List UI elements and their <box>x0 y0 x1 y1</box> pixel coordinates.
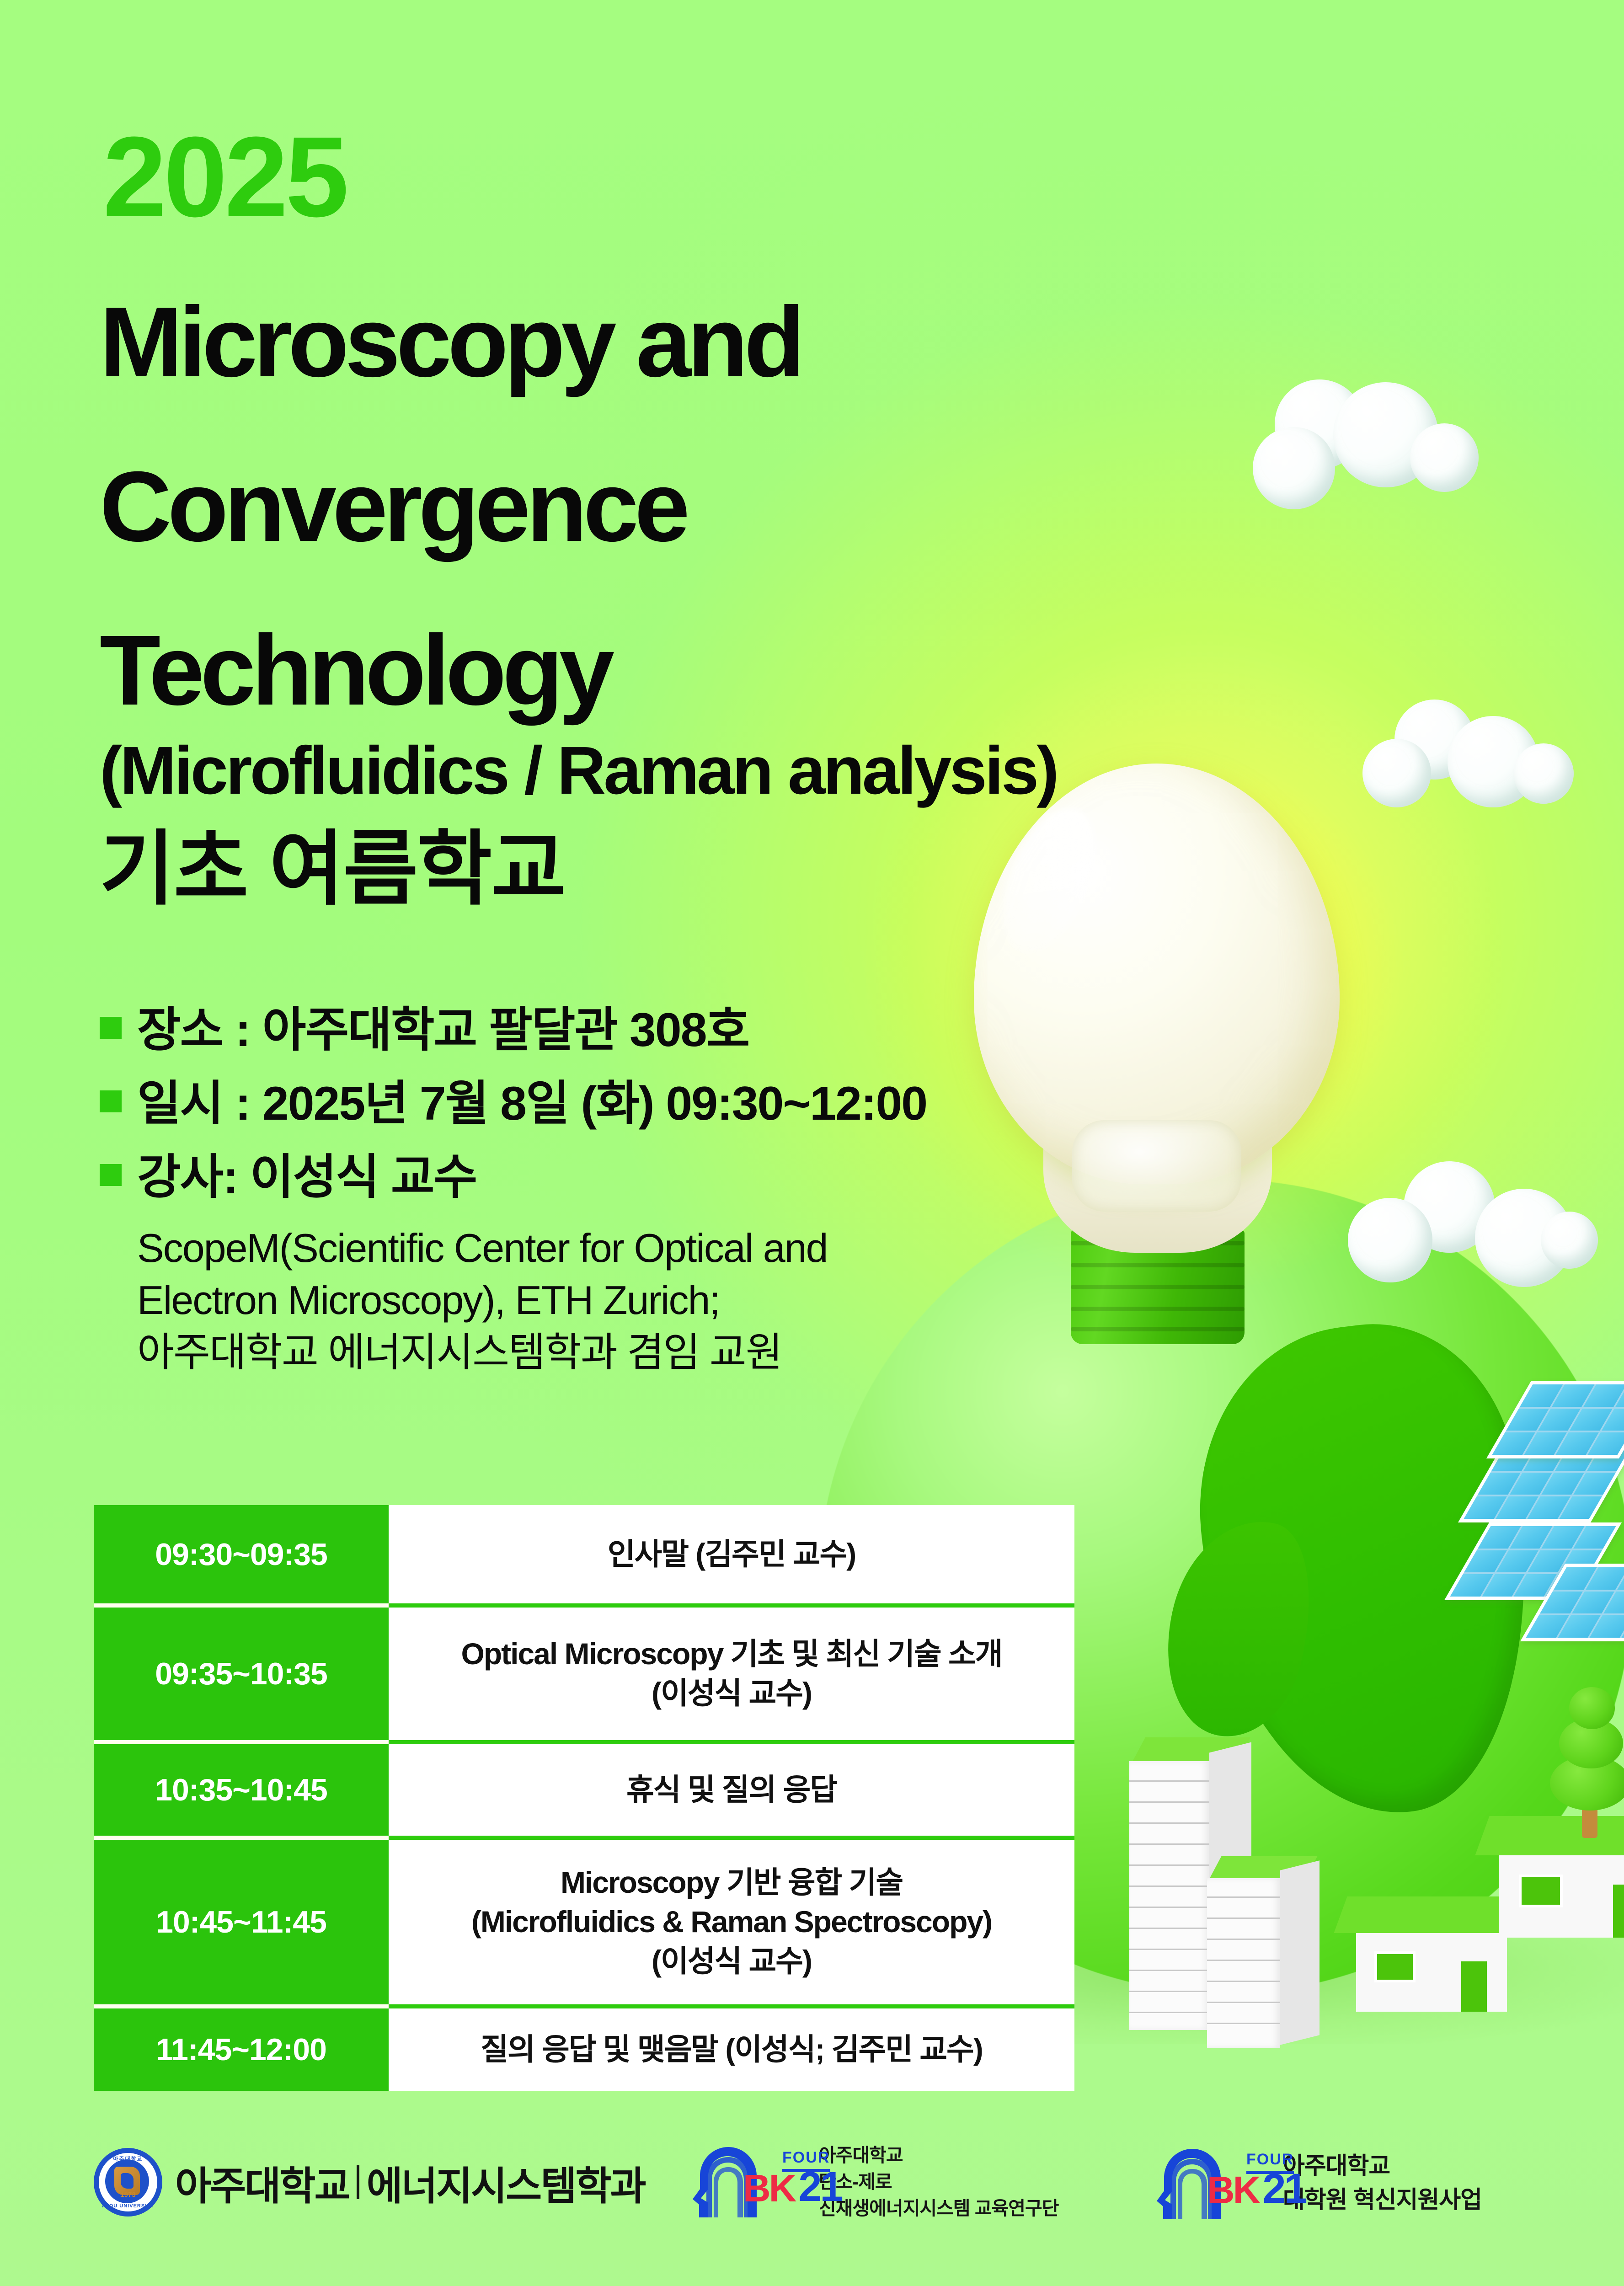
poster-subtitle-english: (Microfluidics / Raman analysis) <box>100 737 1057 805</box>
bk21-mark-icon: FOUR BK 21 <box>1157 2142 1271 2225</box>
seal-bottom-text: AJOU UNIVERSITY <box>99 2203 157 2209</box>
affiliation-line-2: Electron Microscopy), ETH Zurich; <box>137 1274 1151 1326</box>
speaker-label: 강사: <box>137 1151 250 1204</box>
table-row: 09:35~10:35 Optical Microscopy 기초 및 최신 기… <box>94 1608 1074 1740</box>
globe-continent-shape-2 <box>1146 1505 1332 1751</box>
schedule-desc-line: (이성식 교수) <box>461 1674 1002 1713</box>
bk21-energy-caption: 아주대학교 탄소-제로 신재생에너지시스템 교육연구단 <box>819 2142 1058 2222</box>
venue-line: 장소 : 아주대학교 팔달관 308호 <box>137 1001 749 1059</box>
poster-title-line-3: Technology <box>100 621 610 721</box>
poster-subtitle-korean: 기초 여름학교 <box>100 828 565 910</box>
schedule-desc-cell: Optical Microscopy 기초 및 최신 기술 소개 (이성식 교수… <box>389 1608 1074 1740</box>
logo-ajou-university: 아주대학교 1973 AJOU UNIVERSITY 아주대학교 에너지시스템학… <box>94 2148 645 2217</box>
speaker-affiliation: ScopeM(Scientific Center for Optical and… <box>137 1222 1151 1379</box>
caption-line-2: 탄소-제로 <box>819 2168 1058 2195</box>
cloud-icon-middle <box>1362 700 1582 823</box>
poster-title-line-1: Microscopy and <box>100 293 801 392</box>
caption-line-3: 신재생에너지시스템 교육연구단 <box>819 2195 1058 2222</box>
info-row-speaker: 강사: 이성식 교수 <box>100 1148 1151 1207</box>
house-icon-left <box>1344 1865 1527 2016</box>
row-separator <box>94 1836 1074 1840</box>
schedule-time-cell: 09:30~09:35 <box>94 1505 389 1603</box>
table-row: 10:35~10:45 휴식 및 질의 응답 <box>94 1744 1074 1836</box>
bk21-lettering: BK 21 <box>1207 2171 1306 2206</box>
speaker-value: 이성식 교수 <box>250 1151 476 1204</box>
ajou-department: 에너지시스템학과 <box>367 2154 645 2211</box>
bk21-mark-icon: FOUR BK 21 <box>693 2141 807 2223</box>
schedule-desc-cell: 휴식 및 질의 응답 <box>389 1744 1074 1836</box>
poster-year: 2025 <box>103 120 346 234</box>
schedule-time-cell: 09:35~10:35 <box>94 1608 389 1740</box>
schedule-time-cell: 11:45~12:00 <box>94 2008 389 2091</box>
affiliation-line-3: 아주대학교 에너지시스템학과 겸임 교원 <box>137 1326 1151 1378</box>
schedule-desc-line: (이성식 교수) <box>471 1942 992 1981</box>
cloud-icon-lower <box>1344 1161 1600 1308</box>
square-bullet-icon <box>100 1017 122 1039</box>
bk21-bk-letters: BK <box>1207 2174 1259 2206</box>
house-icon-right <box>1486 1783 1624 1948</box>
bk21-21-digits: 21 <box>1262 2171 1305 2206</box>
row-separator <box>94 1603 1074 1608</box>
solar-panel-icon-1 <box>1458 1445 1624 1522</box>
info-row-datetime: 일시 : 2025년 7월 8일 (화) 09:30~12:00 <box>100 1075 1151 1133</box>
building-icon-tall <box>1129 1737 1262 2030</box>
event-info-block: 장소 : 아주대학교 팔달관 308호 일시 : 2025년 7월 8일 (화)… <box>100 1001 1151 1379</box>
caption-line-1: 아주대학교 <box>819 2142 1058 2168</box>
bk21-graduate-caption: 아주대학교 대학원 혁신지원사업 <box>1283 2150 1482 2217</box>
globe-continent-shape <box>1178 1308 1555 1832</box>
caption-line-1: 아주대학교 <box>1283 2150 1482 2184</box>
schedule-desc-cell: 인사말 (김주민 교수) <box>389 1505 1074 1603</box>
speaker-line: 강사: 이성식 교수 <box>137 1148 476 1207</box>
schedule-desc-line: 질의 응답 및 맺음말 (이성식; 김주민 교수) <box>481 2030 982 2069</box>
logo-bk21-energy: FOUR BK 21 아주대학교 탄소-제로 신재생에너지시스템 교육연구단 <box>693 2141 1058 2223</box>
table-row: 10:45~11:45 Microscopy 기반 융합 기술 (Microfl… <box>94 1840 1074 2004</box>
logo-bk21-graduate: FOUR BK 21 아주대학교 대학원 혁신지원사업 <box>1157 2142 1482 2225</box>
poster-canvas: 2025 Microscopy and Convergence Technolo… <box>0 0 1624 2286</box>
schedule-table: 09:30~09:35 인사말 (김주민 교수) 09:35~10:35 Opt… <box>94 1505 1074 2091</box>
seal-year-text: 1973 <box>99 2191 157 2199</box>
solar-panel-icon-2 <box>1486 1381 1624 1458</box>
bk21-bk-letters: BK <box>743 2172 795 2205</box>
building-icon-short <box>1207 1856 1330 2048</box>
poster-title-line-2: Convergence <box>100 457 686 557</box>
schedule-desc-cell: 질의 응답 및 맺음말 (이성식; 김주민 교수) <box>389 2008 1074 2091</box>
datetime-value: 2025년 7월 8일 (화) 09:30~12:00 <box>262 1077 927 1130</box>
schedule-desc-line: 휴식 및 질의 응답 <box>626 1770 837 1810</box>
schedule-desc-line: 인사말 (김주민 교수) <box>608 1535 855 1574</box>
datetime-label: 일시 : <box>137 1077 262 1130</box>
ajou-name: 아주대학교 <box>175 2154 349 2211</box>
lightbulb-highlight <box>985 796 1113 965</box>
square-bullet-icon <box>100 1090 122 1112</box>
venue-label: 장소 : <box>137 1004 262 1057</box>
info-row-venue: 장소 : 아주대학교 팔달관 308호 <box>100 1001 1151 1059</box>
square-bullet-icon <box>100 1164 122 1186</box>
bk21-lettering: BK 21 <box>743 2169 842 2205</box>
row-separator <box>94 1740 1074 1744</box>
schedule-desc-line: Optical Microscopy 기초 및 최신 기술 소개 <box>461 1634 1002 1674</box>
schedule-time-cell: 10:45~11:45 <box>94 1840 389 2004</box>
tree-icon <box>1536 1687 1624 1838</box>
table-row: 11:45~12:00 질의 응답 및 맺음말 (이성식; 김주민 교수) <box>94 2008 1074 2091</box>
ajou-university-seal-icon: 아주대학교 1973 AJOU UNIVERSITY <box>94 2148 162 2217</box>
affiliation-line-1: ScopeM(Scientific Center for Optical and <box>137 1222 1151 1274</box>
table-row: 09:30~09:35 인사말 (김주민 교수) <box>94 1505 1074 1603</box>
venue-value: 아주대학교 팔달관 308호 <box>262 1004 749 1057</box>
bk21-21-digits: 21 <box>798 2169 841 2205</box>
solar-panel-icon-3 <box>1444 1522 1622 1600</box>
solar-panel-icon-4 <box>1520 1564 1624 1641</box>
datetime-line: 일시 : 2025년 7월 8일 (화) 09:30~12:00 <box>137 1075 927 1133</box>
schedule-time-cell: 10:35~10:45 <box>94 1744 389 1836</box>
footer-logo-bar: 아주대학교 1973 AJOU UNIVERSITY 아주대학교 에너지시스템학… <box>0 2121 1624 2254</box>
seal-top-text: 아주대학교 <box>99 2155 157 2163</box>
schedule-desc-line: (Microfluidics & Raman Spectroscopy) <box>471 1902 992 1942</box>
cloud-icon-top <box>1225 379 1481 517</box>
schedule-desc-cell: Microscopy 기반 융합 기술 (Microfluidics & Ram… <box>389 1840 1074 2004</box>
ajou-wordmark: 아주대학교 에너지시스템학과 <box>175 2154 645 2211</box>
schedule-desc-line: Microscopy 기반 융합 기술 <box>471 1863 992 1902</box>
caption-line-2: 대학원 혁신지원사업 <box>1283 2184 1482 2217</box>
row-separator <box>94 2004 1074 2008</box>
divider-bar <box>357 2165 359 2199</box>
